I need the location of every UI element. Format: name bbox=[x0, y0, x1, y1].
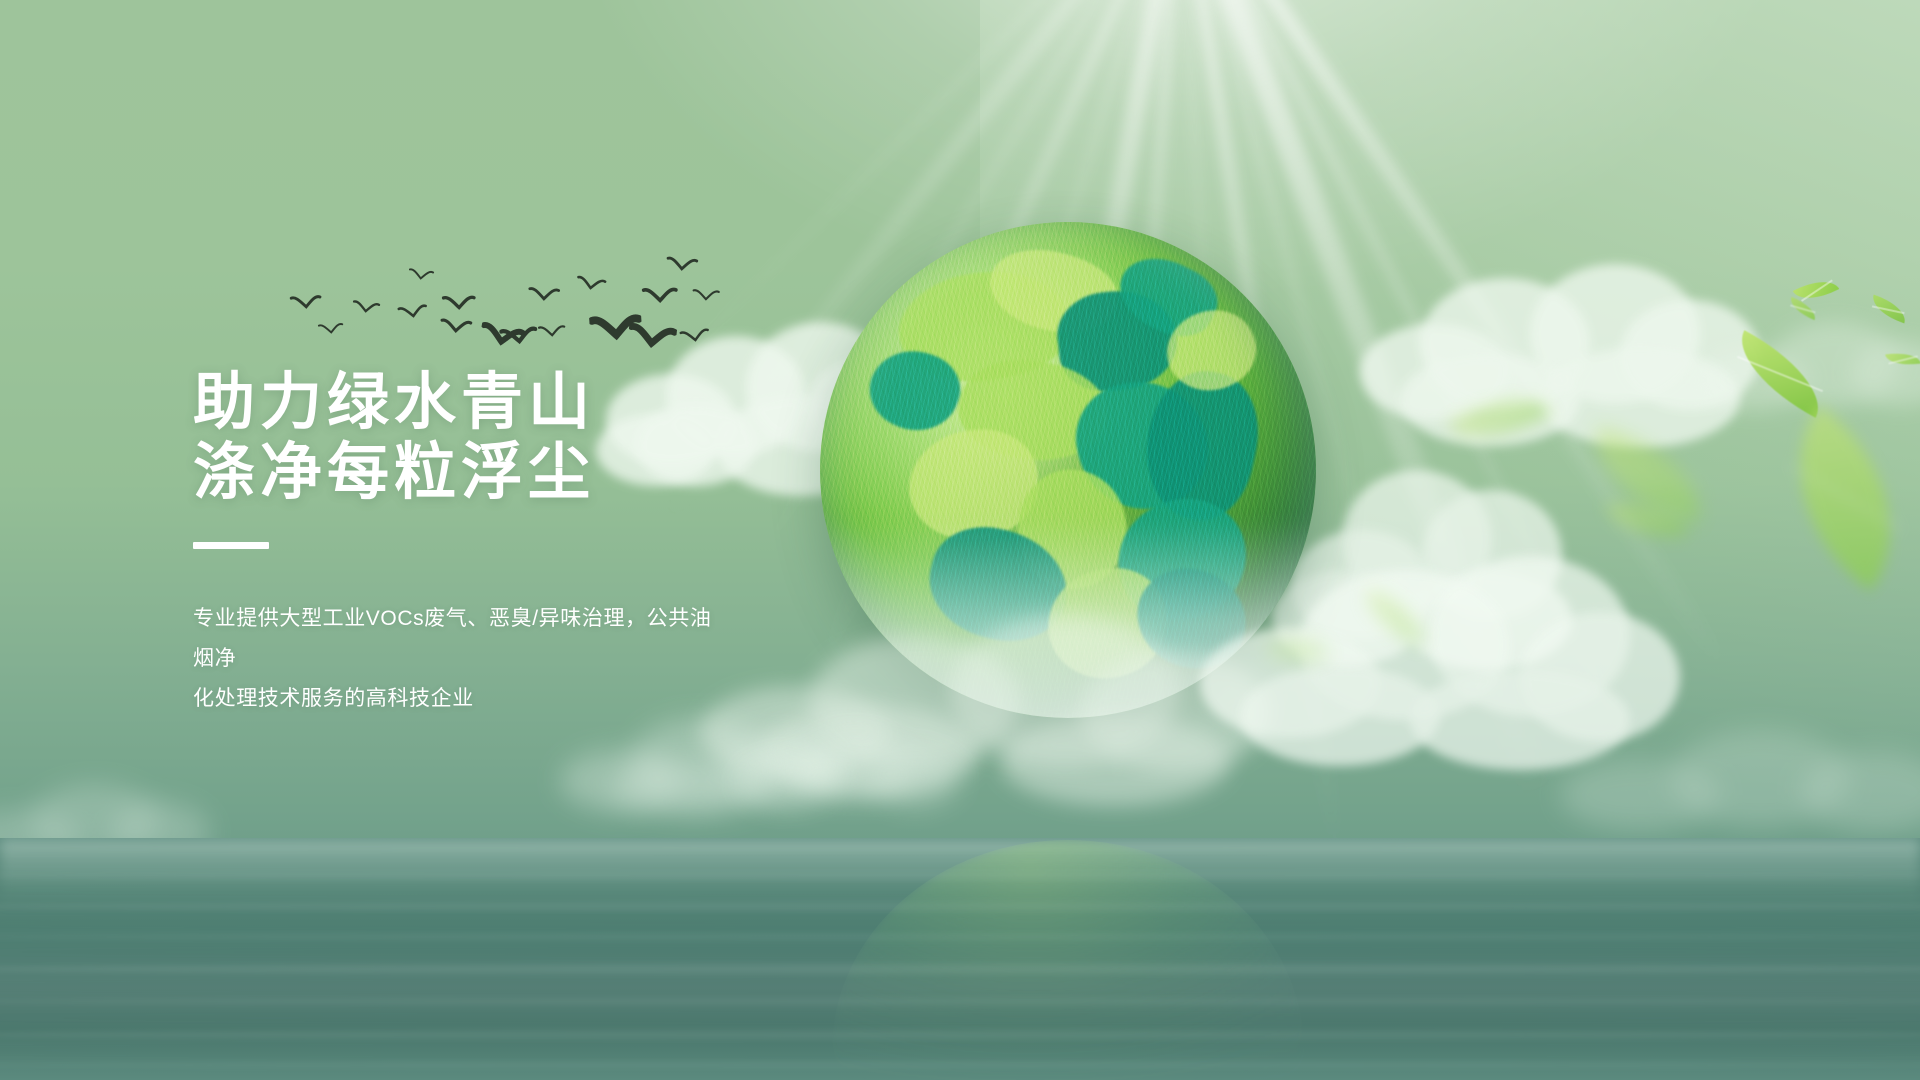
globe-reflection bbox=[832, 840, 1304, 1080]
bird-icon bbox=[537, 323, 566, 342]
leaf-vein bbox=[1273, 640, 1321, 661]
page-title: 助力绿水青山 涤净每粒浮尘 bbox=[193, 368, 873, 508]
subtitle-line-2: 化处理技术服务的高科技企业 bbox=[193, 679, 733, 719]
bird-icon bbox=[575, 274, 607, 296]
cloud-puff bbox=[870, 750, 960, 808]
banner-subtitle: 专业提供大型工业VOCs废气、恶臭/异味治理，公共油烟净 化处理技术服务的高科技… bbox=[193, 599, 733, 719]
bird-icon bbox=[407, 267, 434, 285]
bird-icon bbox=[665, 255, 698, 276]
bird-icon bbox=[351, 299, 381, 319]
title-divider bbox=[193, 542, 269, 549]
bird-icon bbox=[499, 324, 539, 351]
bird-icon bbox=[289, 293, 322, 314]
bird-icon bbox=[439, 317, 472, 338]
cloud bbox=[1560, 700, 1920, 850]
leaf-vein bbox=[1888, 355, 1917, 364]
bird-icon bbox=[679, 326, 711, 348]
bird-icon bbox=[317, 321, 344, 339]
hero-banner: 助力绿水青山 涤净每粒浮尘 专业提供大型工业VOCs废气、恶臭/异味治理，公共油… bbox=[0, 0, 1920, 1080]
bird-icon bbox=[692, 288, 721, 306]
leaf-vein bbox=[1613, 512, 1680, 528]
bird-icon bbox=[397, 302, 429, 324]
bird-icon bbox=[442, 293, 477, 315]
bird-icon bbox=[528, 285, 561, 305]
headline-line-2: 涤净每粒浮尘 bbox=[193, 438, 873, 508]
banner-copy: 助力绿水青山 涤净每粒浮尘 专业提供大型工业VOCs废气、恶臭/异味治理，公共油… bbox=[193, 368, 873, 740]
bird-icon bbox=[627, 322, 678, 356]
subtitle-line-1: 专业提供大型工业VOCs废气、恶臭/异味治理，公共油烟净 bbox=[193, 599, 733, 679]
reflection-ripples bbox=[832, 840, 1304, 1080]
bird-icon bbox=[642, 285, 679, 308]
flock-of-birds bbox=[290, 228, 730, 353]
headline-line-1: 助力绿水青山 bbox=[193, 368, 873, 438]
